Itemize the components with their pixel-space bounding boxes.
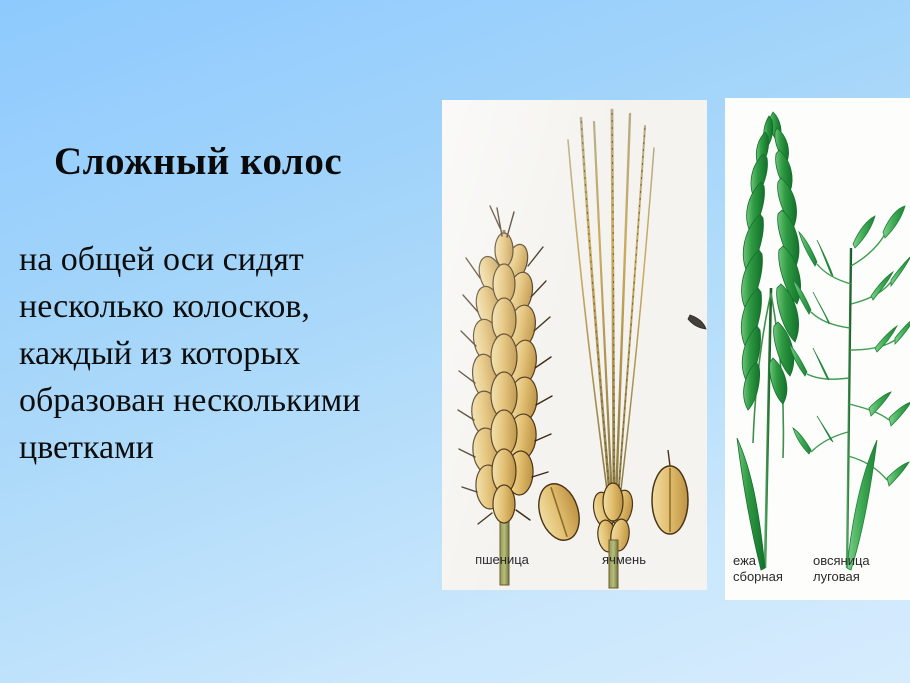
slide-canvas: Сложный колос на общей оси сидят несколь… <box>0 0 910 683</box>
wheat-spike-figure <box>458 206 552 585</box>
cocksfoot-and-fescue-drawing <box>725 98 910 600</box>
page-title: Сложный колос <box>54 139 342 185</box>
caption-barley: ячмень <box>578 552 670 568</box>
body-line-1: на общей оси сидят <box>19 236 449 283</box>
body-line-4: образован несколькими <box>19 377 449 424</box>
caption-fescue-line1: овсяница <box>813 553 870 568</box>
fescue-leaf <box>847 440 877 570</box>
fescue-figure <box>789 206 910 570</box>
body-line-5: цветками <box>19 424 449 471</box>
body-line-2: несколько колосков, <box>19 283 449 330</box>
barley-spikelet-figure <box>652 450 688 534</box>
body-paragraph: на общей оси сидят несколько колосков, к… <box>19 236 449 471</box>
text-content-block: Сложный колос на общей оси сидят несколь… <box>0 0 442 683</box>
cocksfoot-leaf <box>737 438 765 570</box>
caption-fescue: овсяница луговая <box>813 553 905 585</box>
body-line-3: каждый из которых <box>19 330 449 377</box>
grasses-illustration-panel: ежа сборная овсяница луговая <box>725 98 910 600</box>
cereals-illustration-panel: пшеница ячмень <box>442 100 707 590</box>
wheat-grain-figure <box>532 479 586 546</box>
cocksfoot-figure <box>737 112 801 570</box>
caption-cocksfoot-line1: ежа <box>733 553 756 568</box>
barley-spike-figure <box>568 110 654 588</box>
caption-fescue-line2: луговая <box>813 569 860 584</box>
caption-cocksfoot: ежа сборная <box>733 553 805 585</box>
leaf-fragment-icon <box>688 315 706 329</box>
caption-cocksfoot-line2: сборная <box>733 569 783 584</box>
wheat-and-barley-drawing <box>442 100 707 590</box>
caption-wheat: пшеница <box>456 552 548 568</box>
